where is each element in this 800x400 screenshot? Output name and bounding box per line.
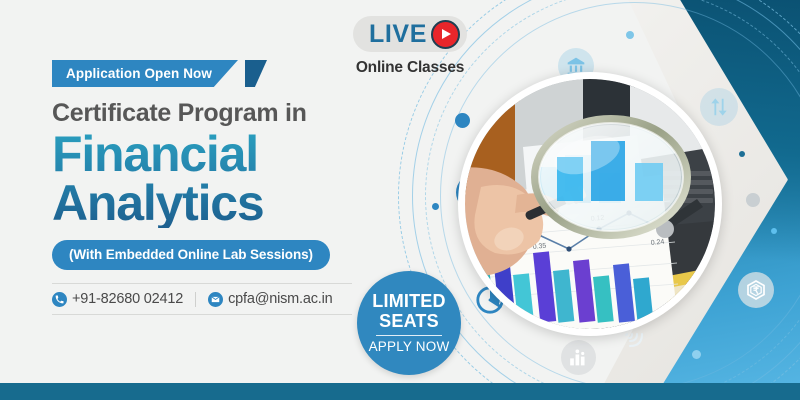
bar-chart-icon (561, 340, 596, 375)
limited-seats-divider (376, 335, 442, 336)
apply-now-label: APPLY NOW (369, 339, 450, 354)
play-triangle (442, 29, 451, 39)
svg-text:0.24: 0.24 (650, 239, 664, 247)
svg-text:₹: ₹ (753, 286, 760, 297)
live-label: LIVE (369, 22, 427, 47)
application-ribbon-label: Application Open Now (52, 60, 238, 87)
orbit-dot-left-mid (432, 203, 439, 210)
contact-divider (195, 292, 196, 307)
contact-phone[interactable]: +91-82680 02412 (52, 291, 183, 307)
play-icon[interactable] (431, 20, 460, 49)
orbit-dot-right-tiny (771, 228, 777, 234)
course-photo: 0.54 0.41 0.35 0.12 0.58 0.24 (465, 79, 715, 329)
live-badge[interactable]: LIVE (353, 16, 467, 52)
limited-seats-line1: LIMITED (372, 292, 445, 312)
rupee-hexagon-icon: ₹ (738, 272, 774, 308)
phone-number: +91-82680 02412 (72, 291, 183, 307)
live-badge-group: LIVE Online Classes (340, 16, 480, 77)
subtitle-pill: (With Embedded Online Lab Sessions) (52, 240, 330, 270)
orbit-dot-right-gray (746, 193, 760, 207)
email-address: cpfa@nism.ac.in (228, 291, 332, 307)
application-ribbon[interactable]: Application Open Now (52, 60, 238, 87)
limited-seats-badge[interactable]: LIMITED SEATS APPLY NOW (357, 271, 461, 375)
ribbon-fold (245, 60, 267, 87)
page-title-line2: Analytics (52, 179, 352, 228)
orbit-dot-large-left (455, 113, 470, 128)
left-content: Application Open Now Certificate Program… (52, 60, 352, 315)
bottom-accent-bar (0, 383, 800, 400)
page-title-main: Financial Analytics (52, 130, 352, 228)
orbit-dot-right-small (739, 151, 745, 157)
phone-icon (52, 292, 67, 307)
contact-email[interactable]: cpfa@nism.ac.in (208, 291, 332, 307)
envelope-icon (208, 292, 223, 307)
course-photo-frame: 0.54 0.41 0.35 0.12 0.58 0.24 (458, 72, 722, 336)
signal-arcs-bottom (616, 330, 646, 356)
contact-bar: +91-82680 02412 cpfa@nism.ac.in (52, 283, 352, 315)
orbit-dot-top (626, 31, 634, 39)
exchange-arrows-icon (700, 88, 738, 126)
page-title-line1: Financial (52, 126, 258, 182)
limited-seats-line2: SEATS (379, 312, 439, 332)
page-title-small: Certificate Program in (52, 100, 352, 126)
online-classes-caption: Online Classes (340, 59, 480, 77)
promotional-banner: $ ₹ (0, 0, 800, 400)
orbit-dot-bottom (692, 350, 701, 359)
